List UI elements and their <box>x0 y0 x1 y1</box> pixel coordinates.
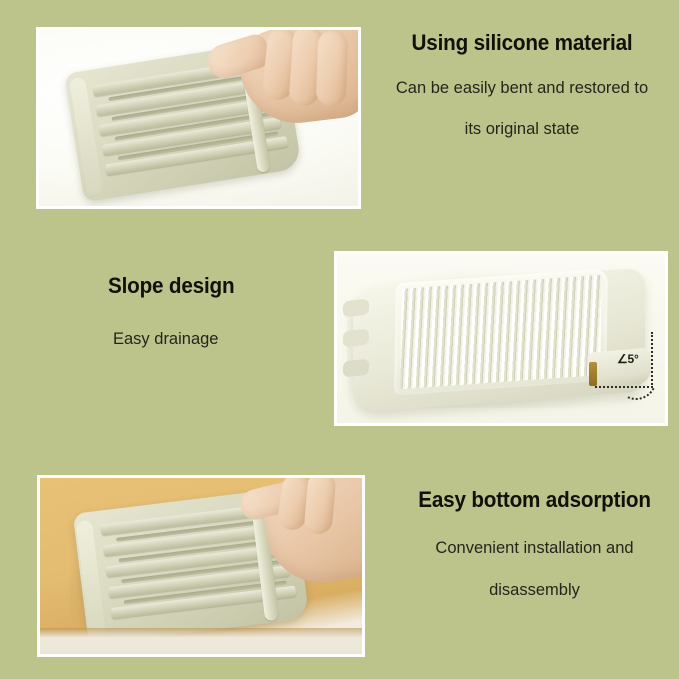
tray-side-tab <box>343 359 369 378</box>
hand <box>169 30 358 142</box>
photo-content <box>40 478 362 654</box>
slope-top-view-photo: ∠5° <box>334 251 668 426</box>
photo-content <box>39 30 358 206</box>
tray-side-tab <box>343 329 369 348</box>
silicone-headline: Using silicone material <box>381 30 663 56</box>
adsorption-body-line-1: Convenient installation and <box>392 540 677 557</box>
slope-body-line-1: Easy drainage <box>113 331 348 348</box>
product-infographic: Using silicone material Can be easily be… <box>0 0 679 679</box>
silicone-body-line-2: its original state <box>372 121 672 138</box>
adsorption-body-line-2: disassembly <box>392 582 677 599</box>
silicone-text-block: Using silicone material Can be easily be… <box>372 30 672 137</box>
hand-bending-tray-photo <box>36 27 361 209</box>
tray-side-tab <box>343 299 369 318</box>
adsorption-text-block: Easy bottom adsorption Convenient instal… <box>392 487 677 598</box>
photo-content: ∠5° <box>337 254 665 423</box>
hand <box>220 478 362 594</box>
adsorption-headline: Easy bottom adsorption <box>401 487 669 513</box>
hand-holding-tray-desk-photo <box>37 475 365 657</box>
desk-edge <box>40 628 362 654</box>
slope-headline: Slope design <box>108 273 334 299</box>
silicone-body-line-1: Can be easily bent and restored to <box>372 80 672 97</box>
ribbed-plate <box>394 269 608 396</box>
angle-annotation: ∠5° <box>589 332 665 394</box>
angle-label: ∠5° <box>617 352 639 366</box>
finger <box>316 30 349 107</box>
plate-ribs <box>400 275 602 389</box>
slope-text-block: Slope design Easy drainage <box>108 273 348 348</box>
